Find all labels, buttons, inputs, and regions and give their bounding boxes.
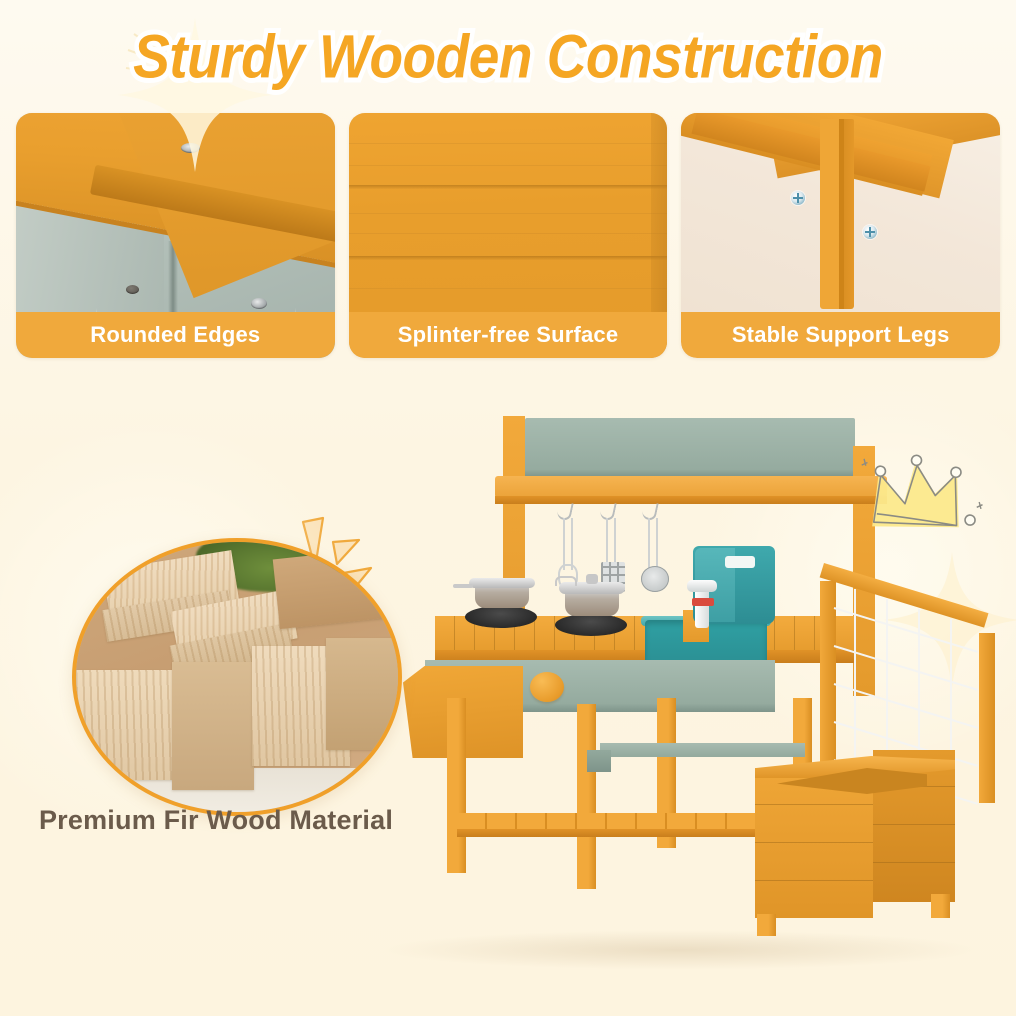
fir-wood-photo-circle	[72, 538, 402, 816]
planter-leg-left	[757, 914, 776, 936]
strainer-head	[641, 566, 669, 592]
middle-shelf-side	[587, 750, 611, 772]
faucet-head	[687, 580, 717, 592]
burner-right	[555, 614, 627, 636]
stove-knob-right[interactable]	[530, 672, 564, 702]
strainer-utensil-side	[656, 518, 658, 570]
whisk-utensil	[563, 518, 565, 570]
leg-front-left	[447, 698, 466, 873]
turner-utensil-side	[614, 518, 616, 566]
faucet-red-band	[692, 598, 714, 606]
faucet-spout	[695, 588, 709, 628]
bucket-handle-cutout	[725, 556, 755, 568]
feature-label-stable-support-legs: Stable Support Legs	[681, 312, 1000, 358]
backsplash-board	[525, 418, 855, 476]
feature-card-stable-support-legs[interactable]: Stable Support Legs	[681, 113, 1000, 358]
planter-box	[755, 738, 955, 938]
hanging-rail	[495, 476, 887, 498]
turner-utensil	[606, 518, 608, 566]
feature-label-rounded-edges: Rounded Edges	[16, 312, 335, 358]
hanging-rail-edge	[495, 496, 887, 504]
pot-left-handle	[453, 584, 473, 588]
pot-right-handle	[555, 576, 577, 586]
planter-leg-right	[931, 894, 950, 918]
page-title: Sturdy Wooden Construction	[133, 20, 883, 92]
feature-card-rounded-edges[interactable]: Rounded Edges	[16, 113, 335, 358]
feature-card-splinter-free-surface[interactable]: Splinter-free Surface	[349, 113, 668, 358]
burner-left	[465, 606, 537, 628]
title-area: Sturdy Wooden Construction	[0, 24, 1016, 88]
feature-label-splinter-free-surface: Splinter-free Surface	[349, 312, 668, 358]
material-caption: Premium Fir Wood Material	[36, 805, 396, 836]
pot-right-knob	[586, 574, 598, 584]
lower-shelf-edge	[457, 829, 757, 837]
feature-panels: Rounded Edges Splinter-free Surface	[16, 113, 1000, 358]
strainer-utensil	[648, 518, 650, 570]
crown-doodle-icon	[852, 443, 992, 563]
pot-left-rim	[469, 578, 535, 588]
infographic-root: Sturdy Wooden Construction Rounded Edges	[0, 0, 1016, 1016]
leg-center	[577, 704, 596, 889]
whisk-utensil-side	[571, 518, 573, 570]
